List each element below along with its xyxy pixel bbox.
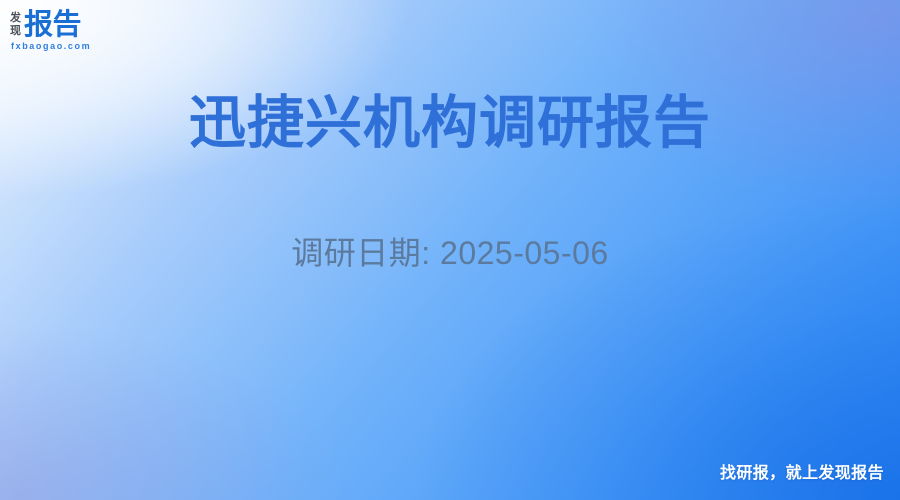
survey-date-subtitle: 调研日期: 2025-05-06 — [0, 230, 900, 276]
logo-wordmark: 发 现 报告 — [10, 9, 122, 40]
page-title: 迅捷兴机构调研报告 — [0, 88, 900, 158]
logo-stacked-characters: 发 现 — [10, 12, 21, 38]
site-logo[interactable]: 发 现 报告 fxbaogao.com — [10, 9, 122, 52]
footer-tagline: 找研报，就上发现报告 — [720, 464, 884, 484]
logo-character-bottom: 现 — [10, 25, 21, 38]
logo-url: fxbaogao.com — [11, 41, 122, 52]
logo-main-word: 报告 — [24, 10, 81, 40]
cover-slide: 发 现 报告 fxbaogao.com 迅捷兴机构调研报告 调研日期: 2025… — [0, 0, 900, 500]
logo-character-top: 发 — [10, 12, 21, 25]
